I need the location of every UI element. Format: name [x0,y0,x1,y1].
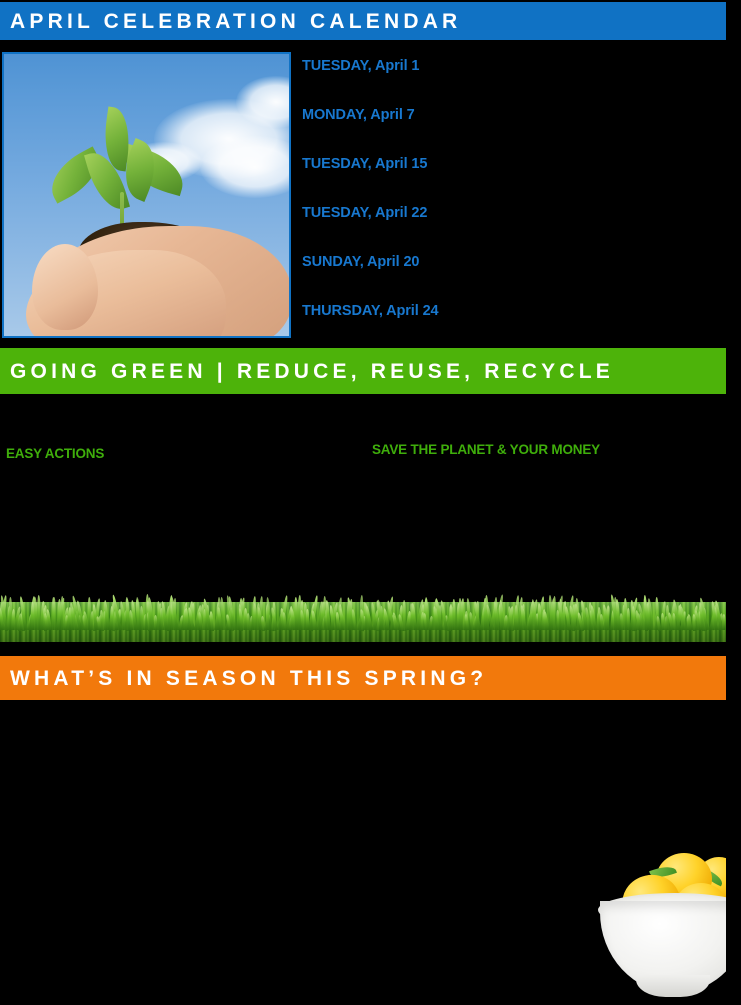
banner-going-green-title: GOING GREEN | REDUCE, REUSE, RECYCLE [10,361,614,382]
hand-thumb [32,244,98,330]
seedling-photo [2,52,291,338]
subhead-save-the-planet: SAVE THE PLANET & YOUR MONEY [372,442,600,457]
banner-april-celebration-calendar: APRIL CELEBRATION CALENDAR [0,2,726,40]
grass-shading [0,602,726,642]
newsletter-page: APRIL CELEBRATION CALENDAR TUESDAY, Apri… [0,0,741,1005]
banner-whats-in-season: WHAT’S IN SEASON THIS SPRING? [0,656,726,700]
lemon-bowl-photo [598,843,726,1005]
list-item: SUNDAY, April 20 [302,252,602,301]
banner-in-season-title: WHAT’S IN SEASON THIS SPRING? [10,668,487,689]
list-item: TUESDAY, April 1 [302,56,602,105]
celebration-date-list: TUESDAY, April 1 MONDAY, April 7 TUESDAY… [302,56,602,350]
list-item: TUESDAY, April 22 [302,203,602,252]
banner-going-green: GOING GREEN | REDUCE, REUSE, RECYCLE [0,348,726,394]
list-item: THURSDAY, April 24 [302,301,602,350]
subhead-easy-actions: EASY ACTIONS [6,446,104,461]
list-item: TUESDAY, April 15 [302,154,602,203]
banner-calendar-title: APRIL CELEBRATION CALENDAR [10,11,461,32]
grass-strip-image [0,586,726,642]
bowl-foot [636,975,710,997]
list-item: MONDAY, April 7 [302,105,602,154]
